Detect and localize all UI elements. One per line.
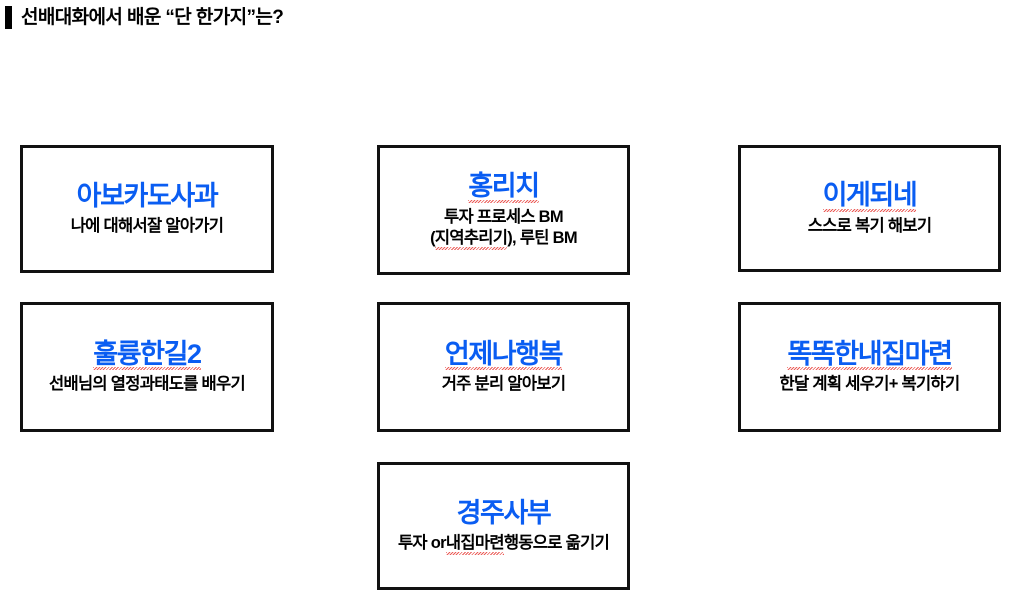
card-body: 한달 계획 세우기+ 복기하기 <box>780 374 960 395</box>
card-body-text: 잘 알아가기 <box>147 216 223 237</box>
card-body-line: 투자 프로세스 BM <box>444 207 563 228</box>
card-body-line: 행동으로 옮기기 <box>504 533 609 554</box>
card-body: 거주 분리 알아보기 <box>442 374 566 395</box>
card-body-line: 투자 or 내집마련 <box>398 533 504 554</box>
card[interactable]: 이게되네스스로 복기 해보기 <box>738 145 1001 272</box>
card-body-text: 거주 분리 알아보기 <box>442 374 566 395</box>
card[interactable]: 훌륭한길2선배님의 열정과태도를 배우기 <box>20 302 274 432</box>
card-body-line: 나에 대해서 <box>71 216 147 237</box>
card[interactable]: 똑똑한내집마련한달 계획 세우기+ 복기하기 <box>738 302 1001 432</box>
card-title: 똑똑한내집마련 <box>787 339 951 369</box>
card-body-text: 투자 프로세스 BM <box>444 207 563 228</box>
card-body-line: 태도를 배우기 <box>154 374 245 395</box>
spellchecked-text: 지역추리기 <box>435 228 507 249</box>
card-body-text: ), 루틴 BM <box>507 228 577 249</box>
card-body-line: 선배님의 열정과 <box>49 374 154 395</box>
card[interactable]: 아보카도사과나에 대해서잘 알아가기 <box>20 145 274 273</box>
card-body-line: + 복기하기 <box>889 374 960 395</box>
card-body: 나에 대해서잘 알아가기 <box>71 216 224 237</box>
card-body-text: 행동으로 옮기기 <box>504 533 609 554</box>
card-body-text: + 복기하기 <box>889 374 960 395</box>
card-title: 훌륭한길2 <box>93 339 200 369</box>
card-body-line: (지역추리기), 루틴 BM <box>430 228 577 249</box>
card-body: 투자 or 내집마련행동으로 옮기기 <box>398 533 609 554</box>
card-body-text: 태도를 배우기 <box>154 374 245 395</box>
card-title: 아보카도사과 <box>77 181 218 211</box>
card-title: 언제나행복 <box>445 339 562 369</box>
card[interactable]: 경주사부투자 or 내집마련행동으로 옮기기 <box>377 462 630 590</box>
page-title-text: 선배대화에서 배운 “단 한가지”는? <box>21 6 283 29</box>
card-title: 홍리치 <box>468 171 538 201</box>
card-body-text: 투자 or <box>398 533 446 554</box>
card[interactable]: 언제나행복거주 분리 알아보기 <box>377 302 630 432</box>
card-body: 스스로 복기 해보기 <box>808 216 932 237</box>
spellchecked-text: 내집마련 <box>446 533 504 554</box>
card-body-text: 나에 대해서 <box>71 216 147 237</box>
card-body-line: 잘 알아가기 <box>147 216 223 237</box>
card[interactable]: 홍리치투자 프로세스 BM(지역추리기), 루틴 BM <box>377 145 630 275</box>
card-body-text: 한달 계획 세우기 <box>780 374 889 395</box>
card-body: 투자 프로세스 BM(지역추리기), 루틴 BM <box>386 207 621 249</box>
card-title: 이게되네 <box>823 180 917 210</box>
card-body: 선배님의 열정과태도를 배우기 <box>49 374 245 395</box>
card-body-line: 스스로 복기 해보기 <box>808 216 932 237</box>
card-body-text: 선배님의 열정과 <box>49 374 154 395</box>
card-title: 경주사부 <box>457 498 551 528</box>
card-body-text: 스스로 복기 해보기 <box>808 216 932 237</box>
card-body-line: 거주 분리 알아보기 <box>442 374 566 395</box>
title-accent-bar <box>5 6 12 29</box>
card-body-line: 한달 계획 세우기 <box>780 374 889 395</box>
page-title: 선배대화에서 배운 “단 한가지”는? <box>5 6 283 29</box>
